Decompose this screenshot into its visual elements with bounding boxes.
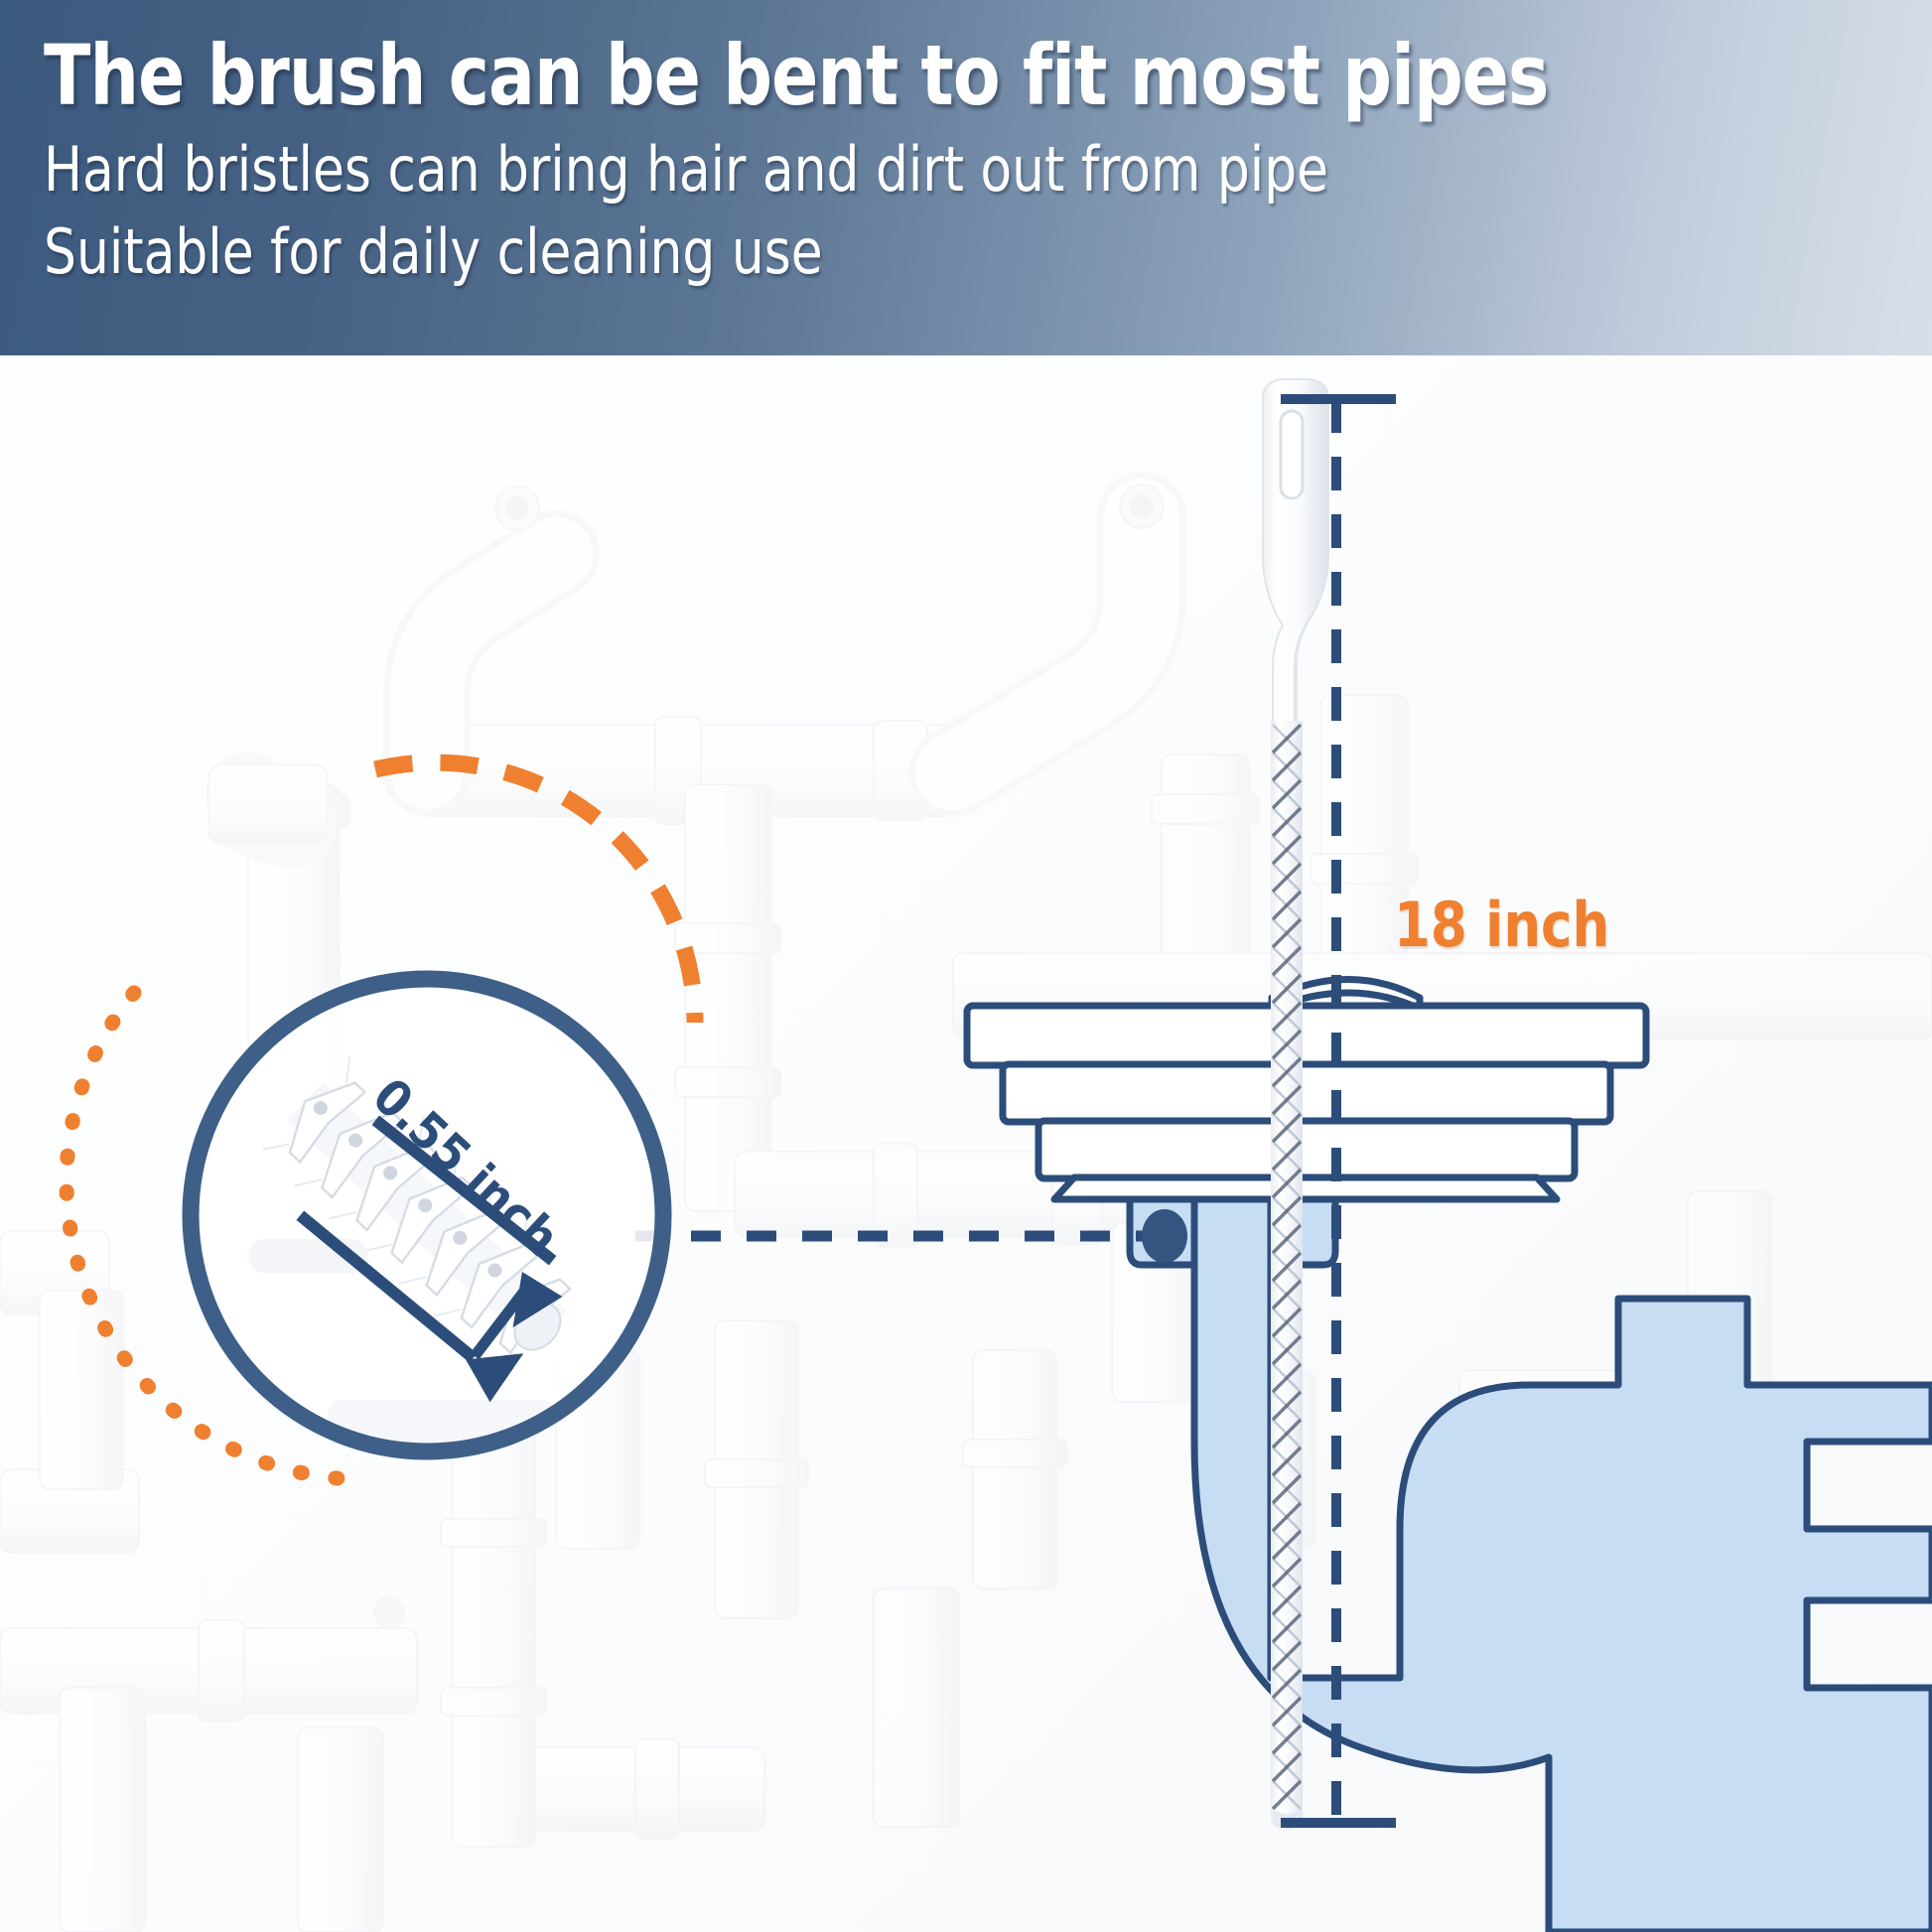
subtitle-line-2: Suitable for daily cleaning use — [44, 215, 1800, 288]
magnifier-lens — [191, 979, 663, 1459]
page-title: The brush can be bent to fit most pipes — [44, 34, 1781, 117]
subtitle-line-1: Hard bristles can bring hair and dirt ou… — [44, 133, 1800, 206]
leader-connector — [635, 1209, 1187, 1263]
infographic-canvas: The brush can be bent to fit most pipes … — [0, 0, 1932, 1932]
length-label-18-inch: 18 inch — [1394, 889, 1609, 961]
header-banner: The brush can be bent to fit most pipes … — [0, 0, 1932, 355]
sink-drain-flange-shape — [967, 980, 1646, 1200]
